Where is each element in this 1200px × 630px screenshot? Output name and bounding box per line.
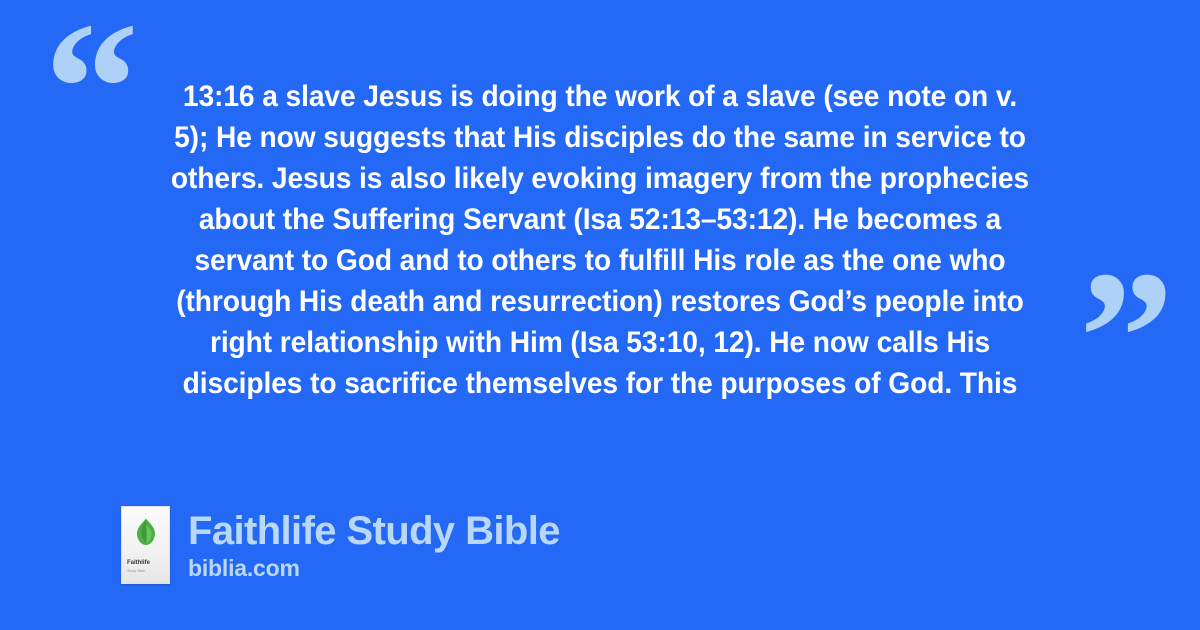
close-quote-icon: ” [1079,243,1172,433]
quote-line: about the Suffering Servant (Isa 52:13–5… [123,199,1078,240]
product-title: Faithlife Study Bible [188,509,560,553]
brand-text-group: Faithlife Study Bible biblia.com [188,509,560,582]
book-cover-thumbnail: Faithlife Study Bible [121,506,170,584]
quote-line: servant to God and to others to fulfill … [123,240,1078,281]
cover-brand-name: Faithlife [127,560,150,566]
quote-line: 5); He now suggests that His disciples d… [123,117,1078,158]
branding-footer: Faithlife Study Bible Faithlife Study Bi… [121,506,560,584]
quote-text-block: 13:16 a slave Jesus is doing the work of… [123,76,1078,404]
quote-line: others. Jesus is also likely evoking ima… [123,158,1078,199]
cover-brand-subtitle: Study Bible [127,570,145,574]
quote-line: 13:16 a slave Jesus is doing the work of… [123,76,1078,117]
quote-line: (through His death and resurrection) res… [123,281,1078,322]
quote-line: right relationship with Him (Isa 53:10, … [123,322,1078,363]
leaf-icon [135,518,157,546]
quote-line: disciples to sacrifice themselves for th… [123,363,1078,404]
site-url[interactable]: biblia.com [188,554,560,582]
quote-share-card: “ 13:16 a slave Jesus is doing the work … [0,0,1200,630]
